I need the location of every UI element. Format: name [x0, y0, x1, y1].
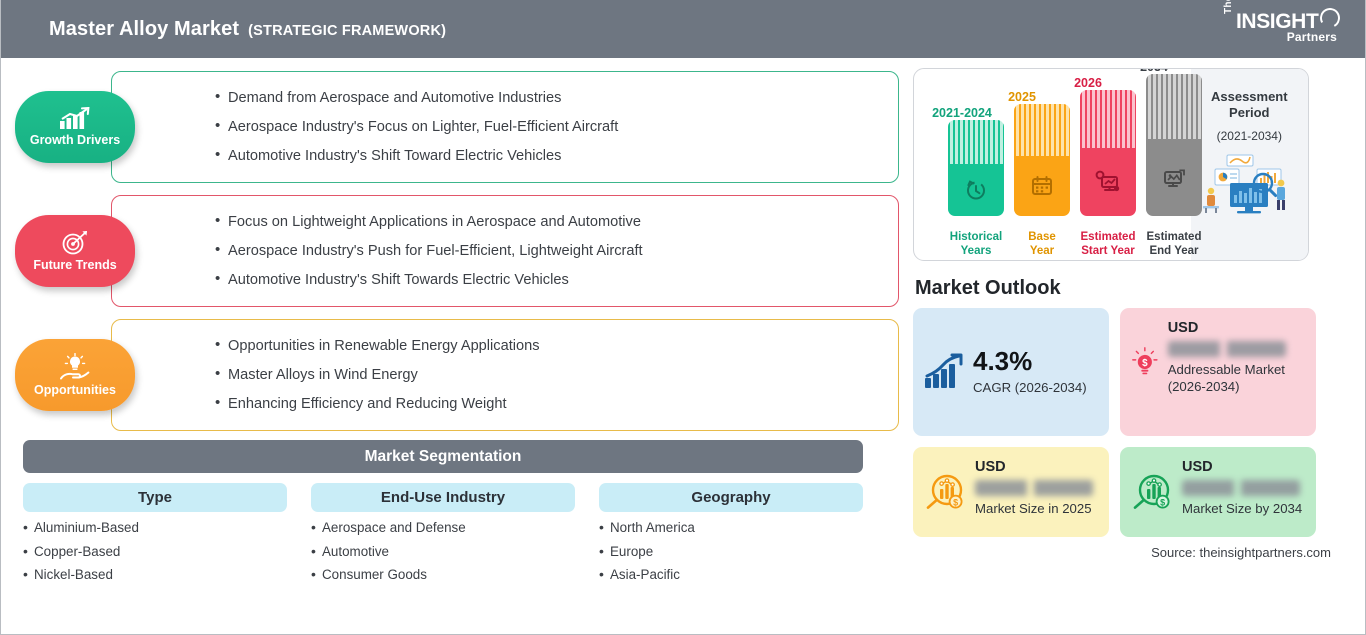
assessment-bars-chart: 2021-2024 Historical Ye [914, 69, 1191, 260]
card-caption: Market Size by 2034 [1182, 500, 1302, 517]
list-item: Aluminium-Based [23, 521, 287, 536]
bar-solid [1146, 139, 1202, 216]
addressable-market-text: USD Addressable Market (2026-2034) [1168, 320, 1304, 424]
page-body: Growth Drivers Demand from Aerospace and… [1, 58, 1365, 592]
target-dart-icon [60, 230, 90, 256]
bar-caption: Historical Years [939, 230, 1013, 258]
market-size-2025-text: USD Market Size in 2025 [975, 459, 1093, 525]
bar-stripes [1146, 74, 1202, 139]
bullet-item: Aerospace Industry's Focus on Lighter, F… [215, 119, 618, 135]
hand-lightbulb-icon [58, 353, 92, 381]
card-cagr: 4.3% CAGR (2026-2034) [913, 308, 1109, 436]
page-subtitle: (STRATEGIC FRAMEWORK) [248, 23, 446, 39]
bar-historical-years [948, 120, 1004, 216]
clock-rewind-icon [963, 177, 989, 203]
market-size-2034-text: USD Market Size by 2034 [1182, 459, 1302, 525]
list-item: Europe [599, 545, 863, 560]
list-item: Nickel-Based [23, 568, 287, 583]
right-column: 2021-2024 Historical Ye [899, 68, 1339, 592]
growth-drivers-badge[interactable]: Growth Drivers [15, 91, 135, 163]
blurred-value [1168, 341, 1286, 357]
segment-list: North America Europe Asia-Pacific [599, 521, 863, 583]
bar-chart-arrow-icon [923, 352, 965, 392]
bar-caption: Base Year [1005, 230, 1079, 258]
assessment-title: Assessment Period [1211, 89, 1288, 122]
header-titles: Master Alloy Market (STRATEGIC FRAMEWORK… [49, 18, 446, 41]
list-item: Automotive [311, 545, 575, 560]
card-addressable-market: $ USD Addressable Market (2026-2034) [1120, 308, 1316, 436]
bullet-item: Master Alloys in Wind Energy [215, 367, 540, 383]
market-outlook-grid: 4.3% CAGR (2026-2034) $ [913, 308, 1339, 537]
svg-text:$: $ [1142, 358, 1148, 369]
segment-caption: Geography [599, 483, 863, 512]
source-label: Source: theinsightpartners.com [913, 545, 1331, 560]
usd-label: USD [975, 459, 1093, 475]
bar-caption: Estimated End Year [1137, 230, 1211, 258]
segment-list: Aluminium-Based Copper-Based Nickel-Base… [23, 521, 287, 583]
bar-stripes [1080, 90, 1136, 148]
logo-partners: Partners [1287, 30, 1337, 44]
blurred-value [975, 480, 1093, 496]
list-item: Asia-Pacific [599, 568, 863, 583]
market-segmentation-columns: Type Aluminium-Based Copper-Based Nickel… [23, 483, 863, 592]
assessment-range: (2021-2034) [1217, 129, 1282, 143]
card-market-size-2034: $ USD Market Size by 2034 [1120, 447, 1316, 537]
logo-the: The [1223, 0, 1234, 14]
section-future-trends: Future Trends Focus on Lightweight Appli… [15, 192, 899, 310]
bullet-item: Demand from Aerospace and Automotive Ind… [215, 90, 618, 106]
bullet-item: Aerospace Industry's Push for Fuel-Effic… [215, 243, 643, 259]
cagr-caption: CAGR (2026-2034) [973, 379, 1087, 396]
market-segmentation-header: Market Segmentation [23, 440, 863, 473]
bar-estimated-start-year [1080, 90, 1136, 216]
card-market-size-2025: $ USD Market Size in 2025 [913, 447, 1109, 537]
analytics-dashboard-illustration [1197, 151, 1301, 217]
cagr-value: 4.3% [973, 348, 1087, 374]
opportunities-bullets: Opportunities in Renewable Energy Applic… [215, 338, 540, 412]
bar-year-label: 2021-2024 [920, 106, 1004, 120]
opportunities-badge[interactable]: Opportunities [15, 339, 135, 411]
magnifier-chart-dollar-icon: $ [923, 471, 967, 515]
blurred-value [1182, 480, 1300, 496]
bar-stripes [1014, 104, 1070, 156]
segmentation-column-geography: Geography North America Europe Asia-Paci… [599, 483, 863, 592]
cagr-text: 4.3% CAGR (2026-2034) [973, 348, 1087, 396]
bullet-item: Automotive Industry's Shift Toward Elect… [215, 148, 618, 164]
card-caption: Market Size in 2025 [975, 500, 1093, 517]
assessment-period-panel: 2021-2024 Historical Ye [913, 68, 1309, 261]
section-opportunities: Opportunities Opportunities in Renewable… [15, 316, 899, 434]
bar-solid [948, 164, 1004, 216]
calendar-icon [1029, 173, 1055, 199]
card-caption: Addressable Market (2026-2034) [1168, 361, 1304, 396]
image-monitor-icon [1160, 165, 1188, 191]
left-column: Growth Drivers Demand from Aerospace and… [15, 68, 899, 592]
bar-caption: Estimated Start Year [1071, 230, 1145, 258]
usd-label: USD [1182, 459, 1302, 475]
svg-text:$: $ [953, 498, 958, 508]
lightbulb-dollar-icon: $ [1130, 340, 1160, 384]
segmentation-column-end-use-industry: End-Use Industry Aerospace and Defense A… [311, 483, 575, 592]
bullet-item: Focus on Lightweight Applications in Aer… [215, 214, 643, 230]
insight-partners-logo: The INSIGHT Partners [1223, 8, 1343, 50]
future-trends-badge[interactable]: Future Trends [15, 215, 135, 287]
bar-year-label: 2025 [980, 90, 1064, 104]
infographic-page: Master Alloy Market (STRATEGIC FRAMEWORK… [0, 0, 1366, 635]
bar-solid [1080, 148, 1136, 216]
bar-base-year [1014, 104, 1070, 216]
future-trends-bullets: Focus on Lightweight Applications in Aer… [215, 214, 643, 288]
list-item: Aerospace and Defense [311, 521, 575, 536]
bullet-item: Automotive Industry's Shift Towards Elec… [215, 272, 643, 288]
segment-caption: End-Use Industry [311, 483, 575, 512]
bar-solid [1014, 156, 1070, 216]
bullet-item: Enhancing Efficiency and Reducing Weight [215, 396, 540, 412]
future-trends-label: Future Trends [33, 258, 116, 272]
growth-chart-icon [58, 107, 92, 131]
magnifier-chart-dollar-icon: $ [1130, 471, 1174, 515]
page-title: Master Alloy Market [49, 18, 239, 41]
segment-list: Aerospace and Defense Automotive Consume… [311, 521, 575, 583]
list-item: North America [599, 521, 863, 536]
section-growth-drivers: Growth Drivers Demand from Aerospace and… [15, 68, 899, 186]
growth-drivers-label: Growth Drivers [30, 133, 120, 147]
usd-label: USD [1168, 320, 1304, 336]
logo-arc-icon [1318, 6, 1343, 31]
svg-text:$: $ [1160, 498, 1165, 508]
bar-stripes [948, 120, 1004, 164]
growth-drivers-bullets: Demand from Aerospace and Automotive Ind… [215, 90, 618, 164]
market-outlook-title: Market Outlook [915, 277, 1339, 300]
gear-monitor-icon [1094, 169, 1122, 195]
opportunities-label: Opportunities [34, 383, 116, 397]
page-header: Master Alloy Market (STRATEGIC FRAMEWORK… [1, 0, 1365, 58]
segment-caption: Type [23, 483, 287, 512]
bar-year-label: 2026 [1046, 76, 1130, 90]
bullet-item: Opportunities in Renewable Energy Applic… [215, 338, 540, 354]
list-item: Consumer Goods [311, 568, 575, 583]
bar-estimated-end-year [1146, 74, 1202, 216]
list-item: Copper-Based [23, 545, 287, 560]
segmentation-column-type: Type Aluminium-Based Copper-Based Nickel… [23, 483, 287, 592]
